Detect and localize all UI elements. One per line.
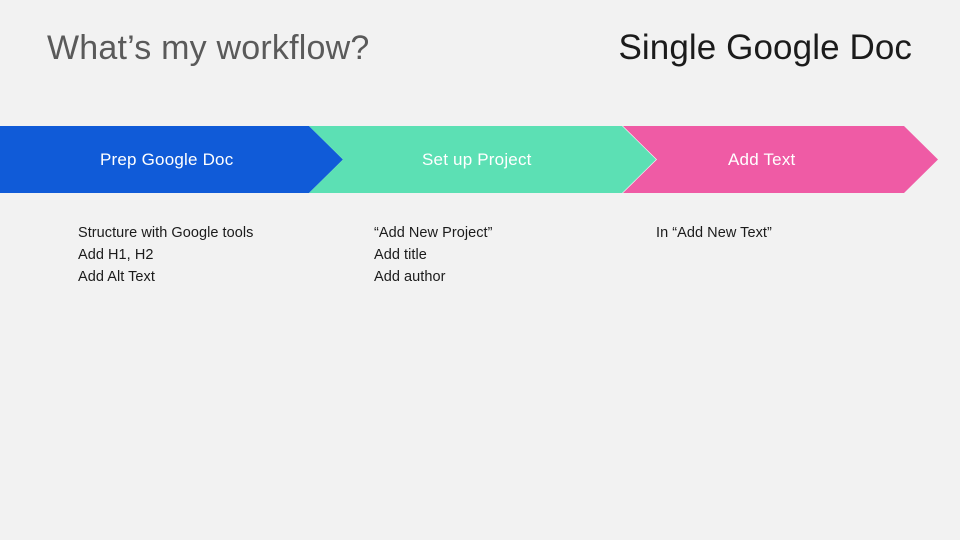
detail-line: Add Alt Text [78,266,358,288]
detail-line: “Add New Project” [374,222,644,244]
detail-line: Add title [374,244,644,266]
process-step-2[interactable]: Set up Project [309,126,656,193]
detail-line: In “Add New Text” [656,222,936,244]
process-step-2-details: “Add New Project” Add title Add author [374,222,644,288]
process-step-2-label: Set up Project [422,150,532,170]
process-step-1-details: Structure with Google tools Add H1, H2 A… [78,222,358,288]
process-step-3-label: Add Text [728,150,795,170]
process-chevron-band: Prep Google Doc Set up Project Add Text [0,126,960,193]
process-step-3[interactable]: Add Text [623,126,938,193]
process-step-3-details: In “Add New Text” [656,222,936,244]
process-step-1-label: Prep Google Doc [100,150,233,170]
page-title-right: Single Google Doc [618,26,912,70]
process-step-1[interactable]: Prep Google Doc [0,126,343,193]
detail-line: Structure with Google tools [78,222,358,244]
slide-canvas: What’s my workflow? Single Google Doc Pr… [0,0,960,540]
detail-line: Add H1, H2 [78,244,358,266]
page-title-left: What’s my workflow? [47,27,369,70]
detail-line: Add author [374,266,644,288]
